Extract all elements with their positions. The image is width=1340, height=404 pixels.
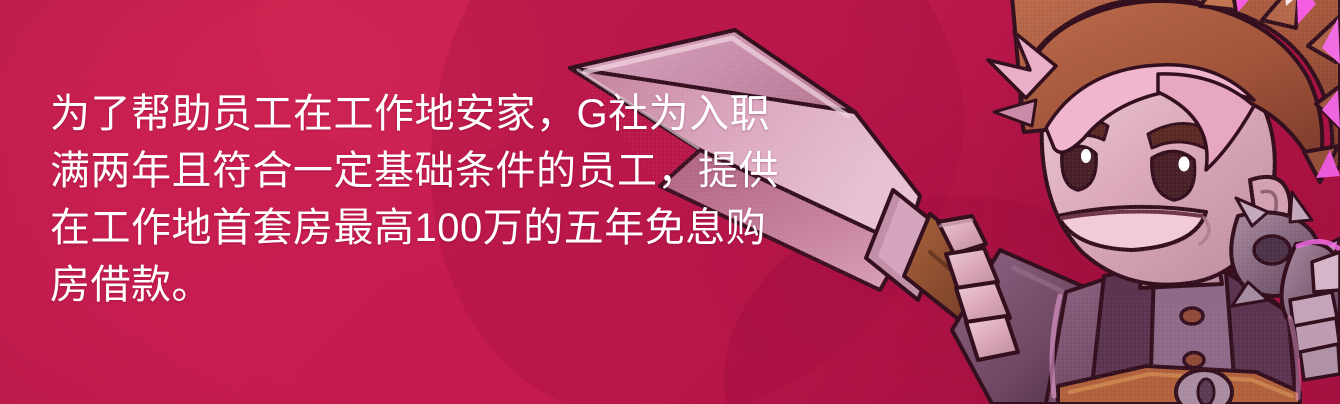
promo-banner: 为了帮助员工在工作地安家，G社为入职 满两年且符合一定基础条件的员工，提供 在工…: [0, 0, 1340, 404]
promo-text-line-4: 房借款。: [50, 257, 850, 314]
promo-text-line-2: 满两年且符合一定基础条件的员工，提供: [50, 143, 850, 200]
promo-text-line-1: 为了帮助员工在工作地安家，G社为入职: [50, 86, 850, 143]
promo-text-block: 为了帮助员工在工作地安家，G社为入职 满两年且符合一定基础条件的员工，提供 在工…: [50, 86, 850, 314]
promo-text-line-3: 在工作地首套房最高100万的五年免息购: [50, 200, 850, 257]
